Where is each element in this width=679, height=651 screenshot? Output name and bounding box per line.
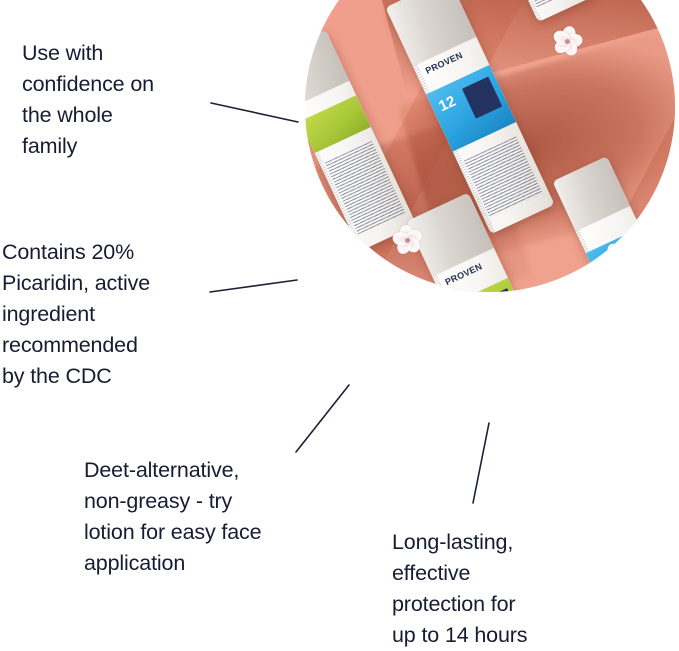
connector-line-picaridin [210, 280, 297, 292]
callout-text-family: Use with confidence on the whole family [22, 38, 202, 162]
connector-line-family [211, 103, 298, 122]
product-feature-infographic: PROVEN 12 [0, 0, 679, 639]
connector-line-longlasting [473, 423, 489, 503]
connector-line-deet [296, 385, 349, 452]
product-photo-circle: PROVEN 12 [305, 0, 675, 292]
callout-text-picaridin: Contains 20% Picaridin, active ingredien… [2, 237, 192, 392]
cherry-blossom-icon [390, 223, 424, 257]
cherry-blossom-icon [549, 23, 585, 59]
callout-text-deet: Deet-alternative, non-greasy - try lotio… [84, 455, 299, 579]
product-photo-scene: PROVEN 12 [305, 0, 675, 292]
callout-text-longlasting: Long-lasting, effective protection for u… [392, 527, 567, 651]
